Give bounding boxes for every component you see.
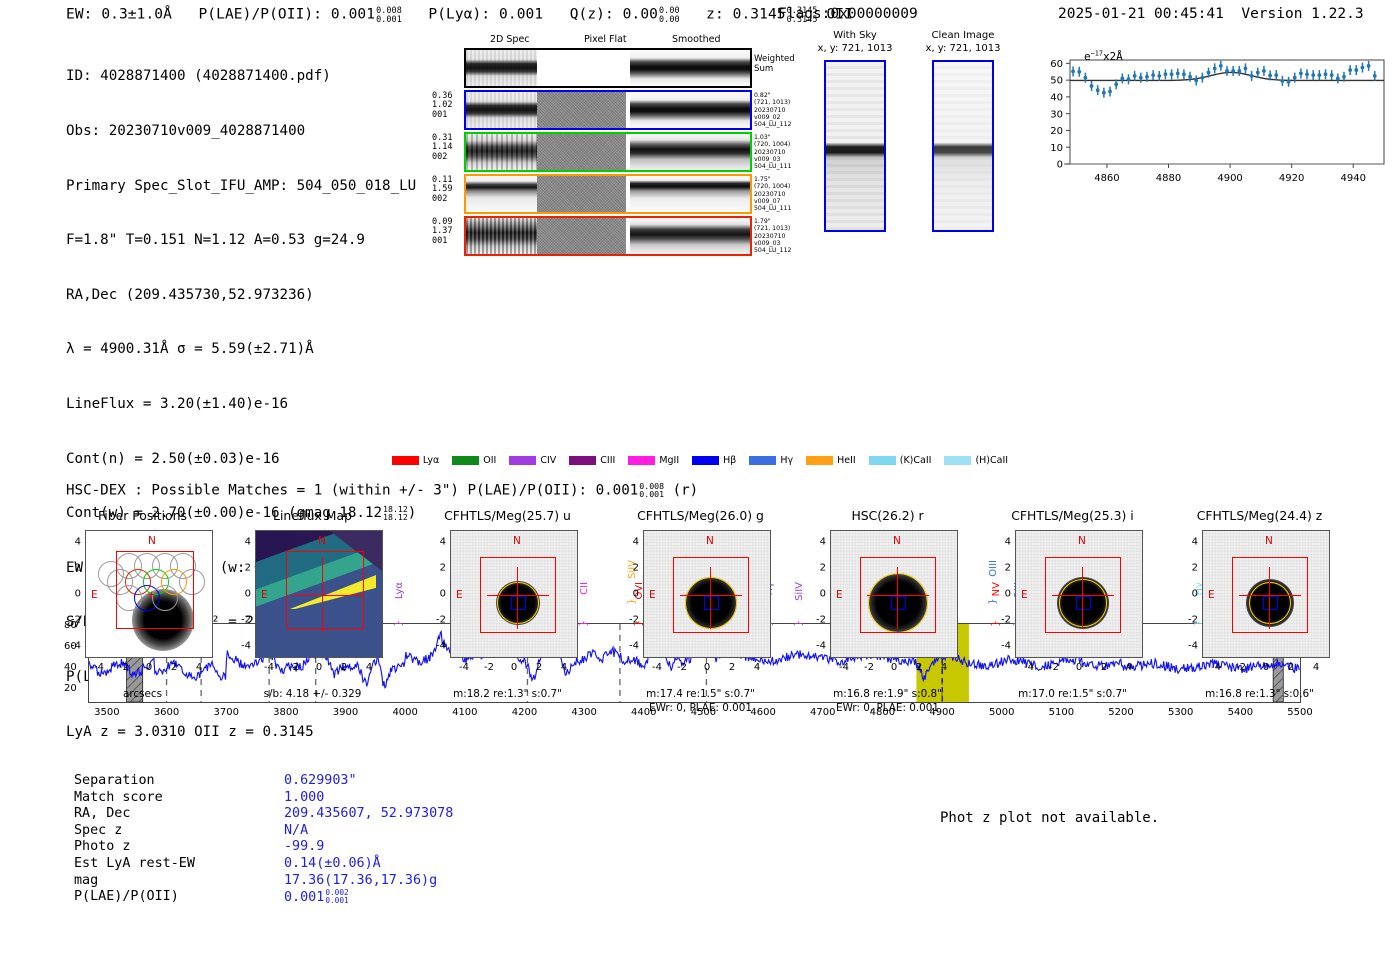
svg-text:4860: 4860 <box>1094 173 1119 184</box>
cutout-ytick: 2 <box>245 563 251 574</box>
cutout-xtick: 0 <box>891 662 897 673</box>
cutout-xtick: 4 <box>941 662 947 673</box>
legend-swatch <box>392 456 419 465</box>
weighted-sum-pixelflat <box>537 50 626 86</box>
match-detail-row: Spec zN/A <box>74 823 453 840</box>
match-detail-key: Est LyA rest-EW <box>74 856 284 873</box>
cutout-xtick: 0 <box>1263 662 1269 673</box>
fiber-1-meta-3: v009_03 <box>754 156 798 163</box>
match-detail-value: -99.9 <box>284 839 324 856</box>
cutout-ytick: 0 <box>1192 589 1198 600</box>
fiber-2-meta-1: (720, 1004) <box>754 183 798 190</box>
with-sky-subtitle: x, y: 721, 1013 <box>812 43 898 56</box>
header-version: Version 1.22.3 <box>1241 6 1363 22</box>
info-id: ID: 4028871400 (4028871400.pdf) <box>66 67 416 85</box>
legend-label: Hγ <box>780 455 793 466</box>
legend-swatch <box>749 456 776 465</box>
crosshair-horizontal <box>1052 595 1114 596</box>
clean-image-title: Clean Image <box>920 30 1006 43</box>
crosshair-horizontal-left <box>292 595 320 596</box>
match-detail-row: Photo z-99.9 <box>74 839 453 856</box>
cutout-ytick: -4 <box>1001 641 1011 652</box>
clean-image-image <box>932 60 994 232</box>
cutout-xtick: -2 <box>119 662 129 673</box>
north-marker: N <box>148 535 156 547</box>
fov-box <box>286 551 364 629</box>
cutout-ytick: -4 <box>816 641 826 652</box>
cutout-xtick: 2 <box>729 662 735 673</box>
cutout-panel: CFHTLS/Meg(24.4) zNE420-2-4-4-2024m:16.8… <box>1172 508 1347 718</box>
cutout-ytick: 0 <box>245 589 251 600</box>
legend-label: (H)CaII <box>975 455 1008 466</box>
fiber-2-meta-4: 504_LU_111 <box>754 205 798 212</box>
cutout-ytick: 2 <box>820 563 826 574</box>
fiber-1-meta-0: 1.03" <box>754 134 798 141</box>
svg-text:0: 0 <box>1057 160 1063 171</box>
cutout-xtick: 4 <box>196 662 202 673</box>
weighted-sum-row <box>464 48 752 88</box>
cutout-ytick: 4 <box>1005 537 1011 548</box>
east-marker: E <box>649 589 656 601</box>
crosshair-horizontal <box>680 595 742 596</box>
cutout-xtick: -2 <box>484 662 494 673</box>
cutout-panel: Fiber Positions+NE420-2-4-4-2024arcsecs <box>55 508 230 718</box>
fiber-3-box <box>464 216 752 256</box>
fiber-0-meta-4: 504_LU_112 <box>754 121 798 128</box>
match-detail-row: RA, Dec209.435607, 52.973078 <box>74 806 453 823</box>
fiber-3-meta-3: v009_03 <box>754 240 798 247</box>
catalog-headline-lo: 0.001 <box>639 490 664 498</box>
header-ew: EW: 0.3±1.0Å <box>66 7 172 23</box>
match-detail-key: Spec z <box>74 823 284 840</box>
header-plya: P(Lyα): 0.001 <box>428 7 543 23</box>
cutout-xtick: -2 <box>289 662 299 673</box>
cutout-ytick: 2 <box>1005 563 1011 574</box>
fiber-0-stat-2: 001 <box>432 111 462 120</box>
cutout-ytick: 0 <box>820 589 826 600</box>
match-detail-key: P(LAE)/P(OII) <box>74 889 284 906</box>
legend-label: (K)CaII <box>900 455 932 466</box>
fiber-0-meta-0: 0.82" <box>754 92 798 99</box>
cutout-xtick: 0 <box>146 662 152 673</box>
cutout-title: Fiber Positions <box>55 508 230 523</box>
cutout-ytick: 4 <box>633 537 639 548</box>
catalog-headline-text: HSC-DEX : Possible Matches = 1 (within +… <box>66 482 638 498</box>
cutout-xlabel: arcsecs <box>55 688 230 700</box>
cutout-ytick: -2 <box>71 615 81 626</box>
cutout-panel: CFHTLS/Meg(25.7) uNE420-2-4-4-2024m:18.2… <box>420 508 595 718</box>
cutout-xtick: 4 <box>561 662 567 673</box>
fiber-1-box <box>464 132 752 172</box>
header-qz-lo: 0.00 <box>659 15 680 24</box>
east-marker: E <box>836 589 843 601</box>
cutout-xtick: 0 <box>511 662 517 673</box>
legend-item: Hγ <box>749 455 793 466</box>
cutout-xtick: -2 <box>1049 662 1059 673</box>
fiber-3-meta-1: (721, 1013) <box>754 225 798 232</box>
header-z: z: 0.3145 <box>706 7 785 23</box>
svg-text:30: 30 <box>1050 109 1063 120</box>
cutout-xtick: -4 <box>94 662 104 673</box>
legend-item: Lyα <box>392 455 439 466</box>
cutout-title: CFHTLS/Meg(25.3) i <box>985 508 1160 523</box>
cutout-ytick: -2 <box>436 615 446 626</box>
cutout-ytick: 2 <box>1192 563 1198 574</box>
cutout-title: CFHTLS/Meg(26.0) g <box>613 508 788 523</box>
crosshair-vertical <box>1269 567 1270 629</box>
crosshair-horizontal <box>1239 595 1301 596</box>
legend-item: (K)CaII <box>869 455 932 466</box>
cutout-ytick: -4 <box>436 641 446 652</box>
legend-item: HeII <box>806 455 856 466</box>
cutout-xtick: -4 <box>264 662 274 673</box>
catalog-headline: HSC-DEX : Possible Matches = 1 (within +… <box>66 482 698 499</box>
fiber-1-stat-2: 002 <box>432 153 462 162</box>
east-marker: E <box>1021 589 1028 601</box>
crosshair-vertical <box>710 567 711 629</box>
fiber-2-meta-2: 20230710 <box>754 191 798 198</box>
legend-swatch <box>569 456 596 465</box>
cutout-image[interactable]: +NE <box>85 530 213 658</box>
match-detail-key: Separation <box>74 773 284 790</box>
svg-text:4900: 4900 <box>1217 173 1242 184</box>
twod-spectrum-panel: 2D Spec Pixel Flat Smoothed Weighted Sum… <box>432 34 792 256</box>
match-detail-row: Match score1.000 <box>74 790 453 807</box>
svg-text:4940: 4940 <box>1340 173 1365 184</box>
cutout-caption-primary: m:18.2 re:1.3" s:0.7" <box>420 688 595 700</box>
clean-image-subtitle: x, y: 721, 1013 <box>920 43 1006 56</box>
north-marker: N <box>893 535 901 547</box>
header-timestamp-version: 2025-01-21 00:45:41 Version 1.22.3 <box>1058 6 1364 22</box>
match-detail-key: RA, Dec <box>74 806 284 823</box>
cutout-caption-primary: m:17.0 re:1.5" s:0.7" <box>985 688 1160 700</box>
legend-label: HeII <box>837 455 856 466</box>
cutout-xtick: 4 <box>366 662 372 673</box>
header-timestamp: 2025-01-21 00:45:41 <box>1058 6 1224 22</box>
east-marker: E <box>456 589 463 601</box>
cutout-xtick: -4 <box>652 662 662 673</box>
cutout-caption-primary: m:16.8 re:1.9" s:0.8" <box>800 688 975 700</box>
svg-text:4920: 4920 <box>1279 173 1304 184</box>
fiber-2-stat-2: 002 <box>432 195 462 204</box>
col-header-pixelflat: Pixel Flat <box>584 34 627 45</box>
cutout-xtick: -2 <box>677 662 687 673</box>
svg-text:50: 50 <box>1050 76 1063 87</box>
with-sky-image <box>824 60 886 232</box>
cutout-ytick: 2 <box>75 563 81 574</box>
legend-item: CIV <box>509 455 556 466</box>
header-plae-lo: 0.001 <box>376 15 402 24</box>
match-detail-key: Photo z <box>74 839 284 856</box>
cutout-ytick: -2 <box>241 615 251 626</box>
legend-label: CIV <box>540 455 556 466</box>
header-plae-poii: P(LAE)/P(OII): 0.001 <box>198 7 375 23</box>
match-detail-row: Separation0.629903" <box>74 773 453 790</box>
cutout-caption-secondary: EWr: 0, PLAE: 0.001 <box>800 702 975 714</box>
east-marker: E <box>1208 589 1215 601</box>
legend-swatch <box>869 456 896 465</box>
cutout-xtick: -2 <box>864 662 874 673</box>
main-spectrum-region: e−17x2Å MgII{SiIV{Lyα{MgII{NV{OII{SiII{L… <box>0 278 1400 478</box>
match-detail-row: Est LyA rest-EW0.14(±0.06)Å <box>74 856 453 873</box>
cutout-ytick: 0 <box>440 589 446 600</box>
fiber-1-meta-2: 20230710 <box>754 149 798 156</box>
legend-item: OII <box>452 455 496 466</box>
line-fit-annotation: e−17x2Å <box>1084 50 1123 63</box>
header-summary-line: EW: 0.3±1.0Å P(LAE)/P(OII): 0.0010.0080.… <box>66 6 853 23</box>
cutout-xtick: 4 <box>754 662 760 673</box>
crosshair-vertical <box>517 567 518 629</box>
cutout-ytick: 0 <box>633 589 639 600</box>
col-header-2dspec: 2D Spec <box>490 34 530 45</box>
fov-box <box>116 551 194 629</box>
fiber-3-meta-0: 1.79" <box>754 218 798 225</box>
cutout-ytick: -2 <box>629 615 639 626</box>
match-detail-key: mag <box>74 873 284 890</box>
cutout-ytick: 4 <box>820 537 826 548</box>
legend-swatch <box>692 456 719 465</box>
crosshair-horizontal <box>487 595 549 596</box>
crosshair-vertical <box>1082 567 1083 629</box>
header-flags: Flags:0x00000009 <box>778 6 918 22</box>
fiber-3-meta-2: 20230710 <box>754 233 798 240</box>
cutout-caption-primary: s/b: 4.18 +/- 0.329 <box>225 688 400 700</box>
cutout-ytick: 0 <box>1005 589 1011 600</box>
cutout-caption-primary: m:17.4 re:1.5" s:0.7" <box>613 688 788 700</box>
info-primary-spec: Primary Spec_Slot_IFU_AMP: 504_050_018_L… <box>66 177 416 195</box>
crosshair-vertical <box>897 567 898 629</box>
east-marker: E <box>91 589 98 601</box>
line-fit-svg: 010203040506048604880490049204940 <box>1040 44 1388 194</box>
fiber-0-meta-1: (721, 1013) <box>754 99 798 106</box>
north-marker: N <box>1078 535 1086 547</box>
crosshair-horizontal <box>867 595 929 596</box>
match-detail-value: 209.435607, 52.973078 <box>284 806 453 823</box>
legend-label: MgII <box>659 455 679 466</box>
legend-swatch <box>509 456 536 465</box>
col-header-smoothed: Smoothed <box>672 34 721 45</box>
east-marker: E <box>261 589 268 601</box>
cutout-xtick: -4 <box>1211 662 1221 673</box>
match-detail-value: 1.000 <box>284 790 324 807</box>
legend-item: CIII <box>569 455 615 466</box>
cutout-panel: CFHTLS/Meg(25.3) iNE420-2-4-4-2024m:17.0… <box>985 508 1160 718</box>
info-z-line: LyA z = 3.0310 OII z = 0.3145 <box>66 723 416 741</box>
match-detail-table: Separation0.629903"Match score1.000RA, D… <box>74 773 453 906</box>
cutout-xtick: -4 <box>1024 662 1034 673</box>
legend-item: (H)CaII <box>944 455 1008 466</box>
north-marker: N <box>706 535 714 547</box>
cutout-ytick: -2 <box>816 615 826 626</box>
svg-text:60: 60 <box>1050 59 1063 70</box>
legend-item: MgII <box>628 455 679 466</box>
legend-item: Hβ <box>692 455 736 466</box>
legend-swatch <box>628 456 655 465</box>
cutout-xtick: -4 <box>839 662 849 673</box>
cutout-xtick: 2 <box>916 662 922 673</box>
cutout-image[interactable]: NE <box>830 530 958 658</box>
line-fit-plot: 010203040506048604880490049204940 e−17x2… <box>1040 44 1388 194</box>
cutout-ytick: 0 <box>75 589 81 600</box>
legend-label: OII <box>483 455 496 466</box>
fiber-2-box <box>464 174 752 214</box>
cutout-xtick: 2 <box>171 662 177 673</box>
cutout-xtick: 0 <box>316 662 322 673</box>
info-cont-w-post: ) <box>408 505 417 521</box>
cutout-ytick: -4 <box>71 641 81 652</box>
center-marker: + <box>148 591 155 599</box>
fiber-3-stat-2: 001 <box>432 237 462 246</box>
cutout-xtick: -2 <box>1236 662 1246 673</box>
legend-swatch <box>806 456 833 465</box>
north-marker: N <box>513 535 521 547</box>
cutout-xtick: 2 <box>536 662 542 673</box>
cutout-ytick: -4 <box>629 641 639 652</box>
svg-text:4880: 4880 <box>1156 173 1181 184</box>
cutout-xtick: 2 <box>341 662 347 673</box>
cutout-title: HSC(26.2) r <box>800 508 975 523</box>
with-sky-title: With Sky <box>812 30 898 43</box>
cutout-xtick: 4 <box>1126 662 1132 673</box>
fiber-3-meta-4: 504_LU_112 <box>754 247 798 254</box>
weighted-sum-smoothed <box>630 50 750 86</box>
match-detail-value-lo: 0.001 <box>325 897 348 905</box>
weighted-sum-label: Weighted Sum <box>754 54 798 75</box>
weighted-sum-2dspec <box>466 50 537 86</box>
fiber-0-meta-2: 20230710 <box>754 107 798 114</box>
fiber-2-meta-0: 1.75" <box>754 176 798 183</box>
match-detail-row: mag17.36(17.36,17.36)g <box>74 873 453 890</box>
cutout-title: CFHTLS/Meg(25.7) u <box>420 508 595 523</box>
legend-swatch <box>452 456 479 465</box>
cutout-image[interactable]: NE <box>643 530 771 658</box>
cutout-ytick: -2 <box>1001 615 1011 626</box>
header-qz: Q(z): 0.00 <box>570 7 658 23</box>
match-detail-value: 0.629903" <box>284 773 357 790</box>
cutout-ytick: 4 <box>75 537 81 548</box>
match-detail-key: Match score <box>74 790 284 807</box>
cutout-xtick: 0 <box>1076 662 1082 673</box>
cutout-image[interactable]: NE <box>255 530 383 658</box>
photz-note: Phot z plot not available. <box>940 810 1159 826</box>
cutout-xtick: 2 <box>1288 662 1294 673</box>
svg-text:20: 20 <box>1050 126 1063 137</box>
match-detail-value: 0.14(±0.06)Å <box>284 856 381 873</box>
legend-label: Lyα <box>423 455 439 466</box>
north-marker: N <box>318 535 326 547</box>
cutout-ytick: -4 <box>241 641 251 652</box>
cutout-ytick: 2 <box>633 563 639 574</box>
cutout-panel: Lineflux MapNE420-2-4-4-2024s/b: 4.18 +/… <box>225 508 400 718</box>
cutout-image[interactable]: NE <box>1202 530 1330 658</box>
spectrum-legend: LyαOIICIVCIIIMgIIHβHγHeII(K)CaII(H)CaII <box>0 455 1400 466</box>
fiber-0-box <box>464 90 752 130</box>
cutout-caption-secondary: EWr: 0, PLAE: 0.001 <box>613 702 788 714</box>
fiber-1-meta-1: (720, 1004) <box>754 141 798 148</box>
cutout-caption-primary: m:16.8 re:1.3" s:0.6" <box>1172 688 1347 700</box>
cutout-ytick: 4 <box>440 537 446 548</box>
cutout-panel: CFHTLS/Meg(26.0) gNE420-2-4-4-2024m:17.4… <box>613 508 788 718</box>
north-marker: N <box>1265 535 1273 547</box>
crosshair-horizontal <box>322 595 362 596</box>
cutout-ytick: 4 <box>245 537 251 548</box>
svg-text:40: 40 <box>1050 93 1063 104</box>
legend-swatch <box>944 456 971 465</box>
catalog-headline-filter: (r) <box>673 482 699 498</box>
cutout-ytick: 2 <box>440 563 446 574</box>
fiber-1-meta-4: 504_LU_111 <box>754 163 798 170</box>
legend-label: Hβ <box>723 455 736 466</box>
cutout-xtick: 0 <box>704 662 710 673</box>
cutout-panel: HSC(26.2) rNE420-2-4-4-2024m:16.8 re:1.9… <box>800 508 975 718</box>
cutout-ytick: 4 <box>1192 537 1198 548</box>
cutout-title: Lineflux Map <box>225 508 400 523</box>
cutout-xtick: -4 <box>459 662 469 673</box>
legend-label: CIII <box>600 455 615 466</box>
info-obs: Obs: 20230710v009_4028871400 <box>66 122 416 140</box>
svg-text:10: 10 <box>1050 143 1063 154</box>
crosshair-vertical-low <box>322 607 323 633</box>
fiber-2-meta-3: v009_07 <box>754 198 798 205</box>
cutout-xtick: 4 <box>1313 662 1319 673</box>
fiber-0-meta-3: v009_02 <box>754 114 798 121</box>
match-detail-row: P(LAE)/P(OII)0.0010.0020.001 <box>74 889 453 906</box>
cutout-ytick: -2 <box>1188 615 1198 626</box>
cutout-image[interactable]: NE <box>1015 530 1143 658</box>
match-detail-value: 0.0010.0020.001 <box>284 889 349 906</box>
cutout-xtick: 2 <box>1101 662 1107 673</box>
cutout-image[interactable]: NE <box>450 530 578 658</box>
cutout-title: CFHTLS/Meg(24.4) z <box>1172 508 1347 523</box>
cutout-ytick: -4 <box>1188 641 1198 652</box>
match-detail-value: 17.36(17.36,17.36)g <box>284 873 437 890</box>
match-detail-value: N/A <box>284 823 308 840</box>
info-seeing: F=1.8" T=0.151 N=1.12 A=0.53 g=24.9 <box>66 231 416 249</box>
